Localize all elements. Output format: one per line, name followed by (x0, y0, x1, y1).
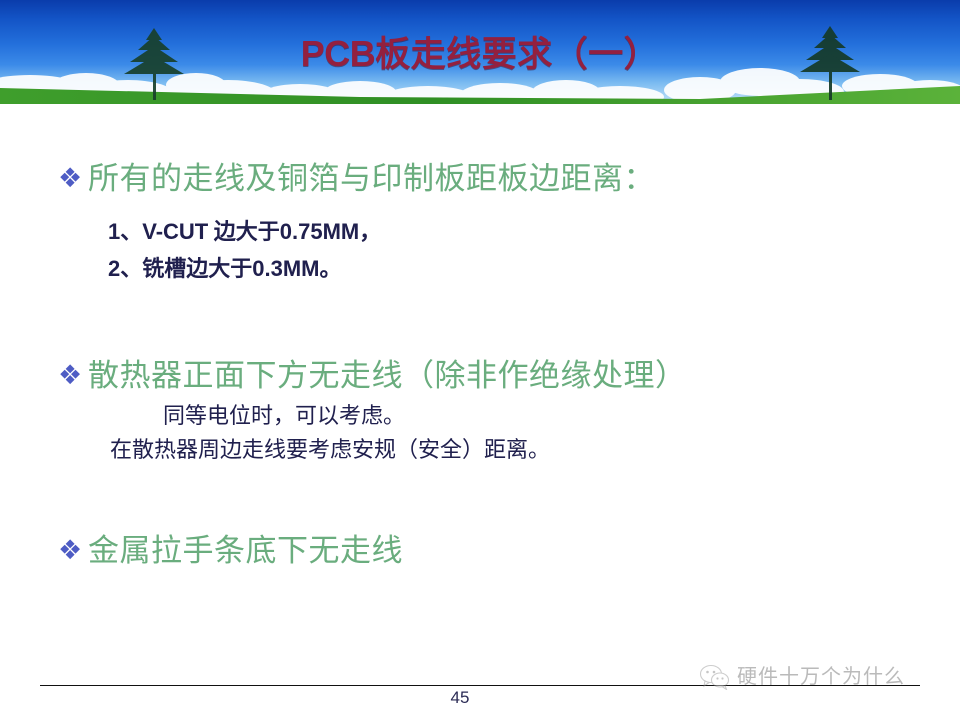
subline-mid-text: 边大于 (208, 219, 280, 244)
slide: PCB板走线要求（一） ❖ 所有的走线及铜箔与印制板距板边距离： 1、V-CUT… (0, 0, 960, 720)
diamond-bullet-icon: ❖ (58, 159, 88, 199)
bullet-2-subline-2: 在散热器周边走线要考虑安规（安全）距离。 (110, 435, 550, 465)
bullet-1-subline-1: 1、V-CUT 边大于0.75MM， (108, 217, 381, 247)
header-banner: PCB板走线要求（一） (0, 0, 960, 104)
wechat-icon (700, 664, 730, 690)
list-number: 2、 (108, 256, 142, 281)
watermark: 硬件十万个为什么 (700, 664, 905, 690)
bullet-heading-2: 散热器正面下方无走线（除非作绝缘处理） (88, 356, 687, 396)
bullet-heading-1: 所有的走线及铜箔与印制板距板边距离： (88, 159, 655, 199)
page-title: PCB板走线要求（一） (0, 33, 960, 76)
term-label: V-CUT (142, 219, 208, 244)
bullet-heading-3: 金属拉手条底下无走线 (88, 531, 403, 571)
slide-body: ❖ 所有的走线及铜箔与印制板距板边距离： 1、V-CUT 边大于0.75MM， … (0, 104, 960, 644)
bullet-item-2: ❖ 散热器正面下方无走线（除非作绝缘处理） (58, 356, 687, 396)
list-number: 1、 (108, 219, 142, 244)
diamond-bullet-icon: ❖ (58, 356, 88, 396)
bullet-1-subline-2: 2、铣槽边大于0.3MM。 (108, 254, 342, 284)
measure-value: 0.75MM (280, 219, 359, 244)
watermark-text: 硬件十万个为什么 (737, 664, 905, 690)
page-title-latin: PCB (301, 33, 376, 74)
page-title-cjk: 板走线要求（一） (375, 35, 659, 74)
subline-tail-text: ， (359, 219, 381, 244)
bullet-2-subline-1: 同等电位时，可以考虑。 (163, 401, 405, 431)
diamond-bullet-icon: ❖ (58, 531, 88, 571)
bullet-item-1: ❖ 所有的走线及铜箔与印制板距板边距离： (58, 159, 655, 199)
page-number: 45 (0, 687, 920, 709)
measure-value: 0.3MM (252, 256, 319, 281)
subline-mid-text: 铣槽边大于 (142, 256, 252, 281)
subline-tail-text: 。 (320, 256, 342, 281)
bullet-item-3: ❖ 金属拉手条底下无走线 (58, 531, 403, 571)
